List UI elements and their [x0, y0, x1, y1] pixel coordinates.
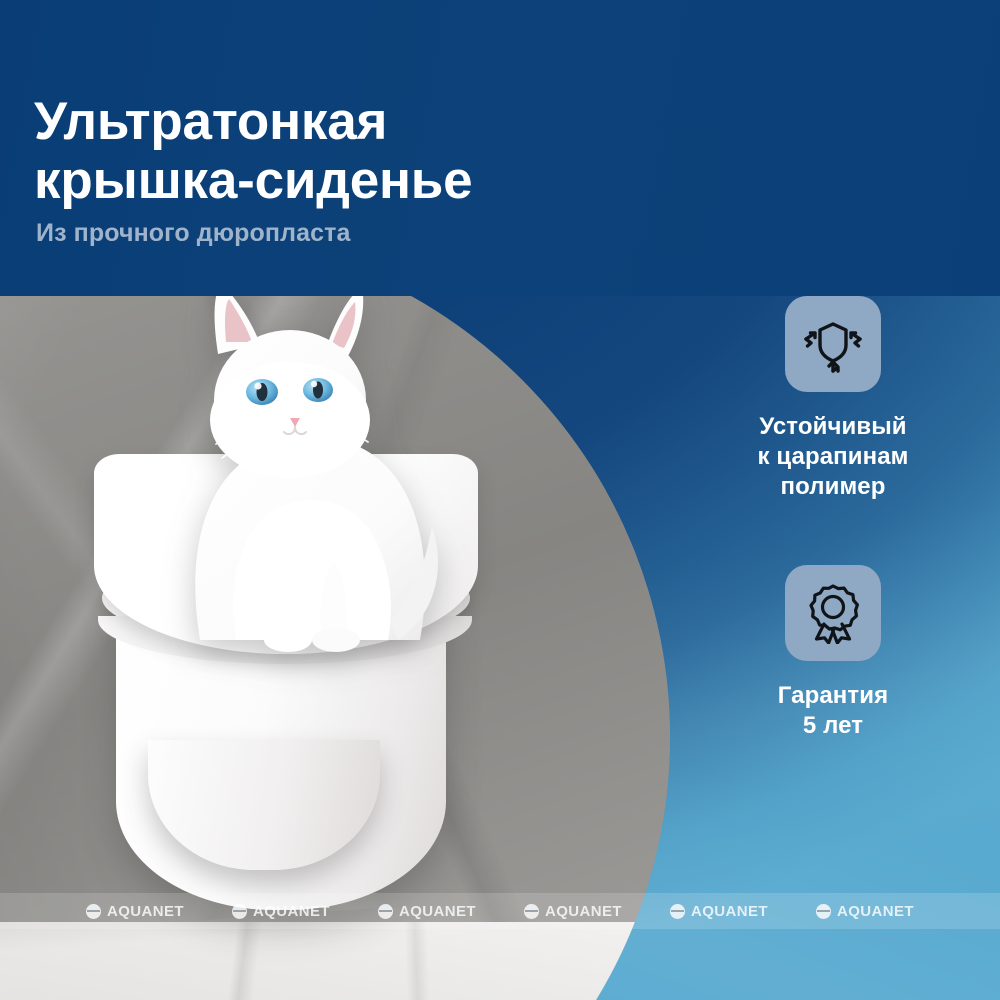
watermark: AQUANET — [524, 903, 622, 920]
feature-label-line-1: Гарантия — [690, 681, 976, 711]
watermark-text: AQUANET — [253, 903, 330, 920]
page-title: Ультратонкая крышка-сиденье — [34, 92, 674, 211]
award-rosette-icon — [785, 565, 881, 661]
white-cat — [140, 268, 460, 658]
shield-impact-icon — [785, 296, 881, 392]
feature-label-line-2: к царапинам — [690, 442, 976, 472]
watermark: AQUANET — [816, 903, 914, 920]
aquanet-logo-icon — [524, 904, 539, 919]
feature-list: Устойчивый к царапинам полимер Гарантия … — [690, 296, 976, 803]
feature-label-line-3: полимер — [690, 472, 976, 502]
watermark-text: AQUANET — [107, 903, 184, 920]
watermark-text: AQUANET — [399, 903, 476, 920]
feature-scratch-resistant: Устойчивый к царапинам полимер — [690, 296, 976, 503]
watermark-text: AQUANET — [837, 903, 914, 920]
watermark-text: AQUANET — [545, 903, 622, 920]
watermark: AQUANET — [378, 903, 476, 920]
watermark: AQUANET — [670, 903, 768, 920]
feature-warranty: Гарантия 5 лет — [690, 565, 976, 741]
marble-floor — [0, 922, 670, 1000]
aquanet-logo-icon — [86, 904, 101, 919]
page-subtitle: Из прочного дюропласта — [36, 219, 350, 248]
product-poster: Ультратонкая крышка-сиденье Из прочного … — [0, 0, 1000, 1000]
watermark-text: AQUANET — [691, 903, 768, 920]
watermark: AQUANET — [86, 903, 184, 920]
aquanet-logo-icon — [232, 904, 247, 919]
watermark: AQUANET — [232, 903, 330, 920]
feature-label-line-1: Устойчивый — [690, 412, 976, 442]
aquanet-logo-icon — [670, 904, 685, 919]
headline-line-1: Ультратонкая — [34, 92, 387, 151]
headline-line-2: крышка-сиденье — [34, 151, 674, 210]
aquanet-logo-icon — [816, 904, 831, 919]
feature-label: Гарантия 5 лет — [690, 681, 976, 741]
feature-label-line-2: 5 лет — [690, 711, 976, 741]
feature-label: Устойчивый к царапинам полимер — [690, 412, 976, 503]
brand-watermark-strip: AQUANET AQUANET AQUANET AQUANET AQUANET … — [0, 893, 1000, 929]
aquanet-logo-icon — [378, 904, 393, 919]
